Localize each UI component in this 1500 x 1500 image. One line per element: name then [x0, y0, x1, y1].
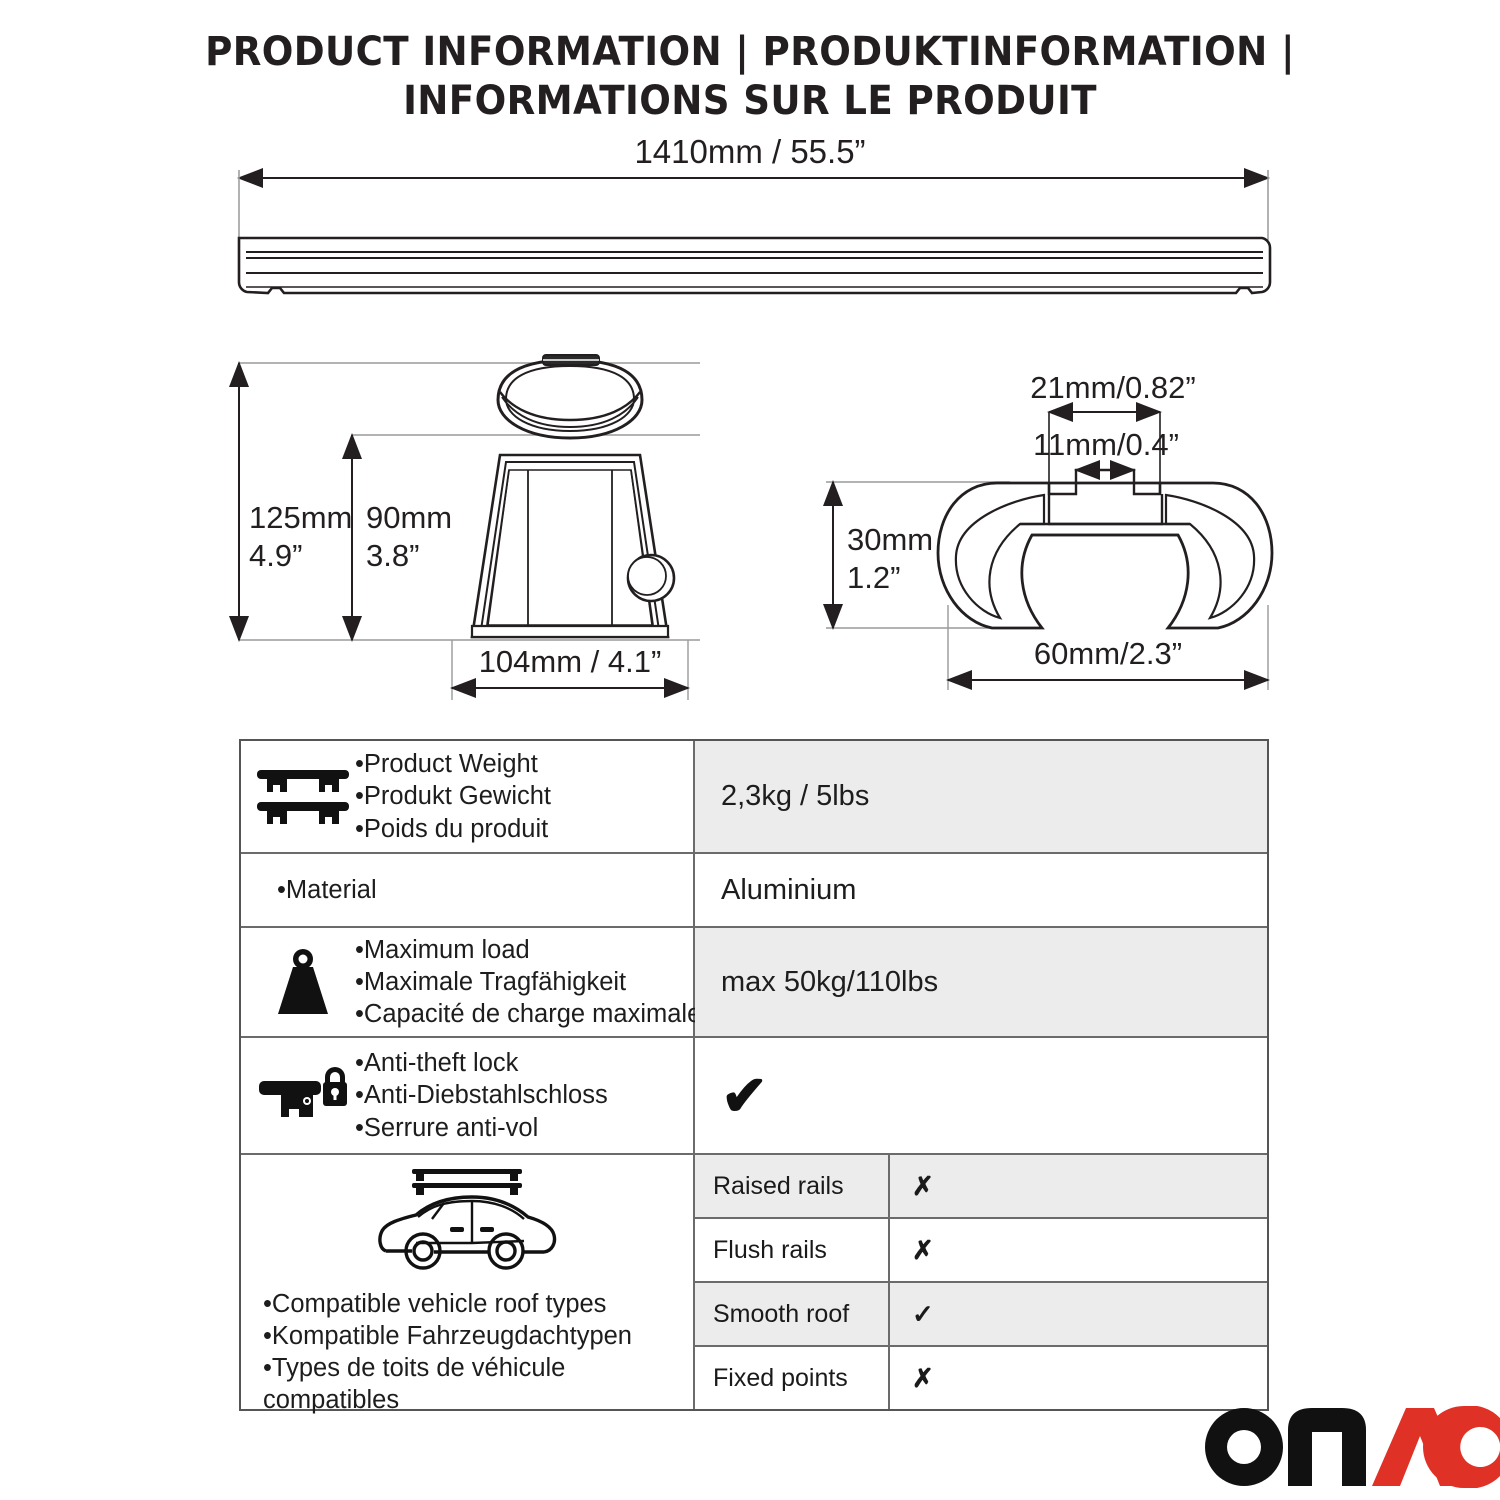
- bar-cross-section-view: 21mm/0.82” 11mm/0.4” 30mm 1.2” 60mm/2.3”: [826, 370, 1272, 690]
- anti-theft-lock-value: ✔: [721, 1068, 768, 1124]
- label-line-fr: •Types de toits de véhicule: [263, 1352, 632, 1384]
- maximum-load-value: max 50kg/110lbs: [721, 966, 938, 999]
- label-line-fr: •Poids du produit: [355, 813, 689, 845]
- roof-type-value: ✓: [890, 1283, 1267, 1345]
- roof-type-name: Raised rails: [695, 1155, 890, 1217]
- page-title: PRODUCT INFORMATION | PRODUKTINFORMATION…: [0, 28, 1500, 126]
- row-label-cell: •Product Weight •Produkt Gewicht •Poids …: [241, 741, 695, 852]
- product-specification-table: •Product Weight •Produkt Gewicht •Poids …: [239, 739, 1269, 1411]
- table-row-product-weight: •Product Weight •Produkt Gewicht •Poids …: [241, 741, 1267, 854]
- roof-type-row: Raised rails ✗: [695, 1155, 1267, 1219]
- foot-inner-height-mm: 90mm: [366, 500, 452, 535]
- row-label-text: •Anti-theft lock •Anti-Diebstahlschloss …: [355, 1047, 689, 1143]
- row-label-cell: •Material: [241, 854, 695, 926]
- row-label-cell: •Maximum load •Maximale Tragfähigkeit •C…: [241, 928, 695, 1036]
- logo-letter-m: [1288, 1408, 1366, 1486]
- bar-length-label: 1410mm / 55.5”: [634, 133, 865, 170]
- row-label-cell: •Anti-theft lock •Anti-Diebstahlschloss …: [241, 1038, 695, 1153]
- row-label-text: •Compatible vehicle roof types •Kompatib…: [241, 1288, 632, 1417]
- row-label-text: •Maximum load •Maximale Tragfähigkeit •C…: [355, 934, 701, 1030]
- roof-types-subtable: Raised rails ✗ Flush rails ✗ Smooth roof…: [695, 1155, 1267, 1409]
- roof-type-name: Fixed points: [695, 1347, 890, 1409]
- logo-letter-o: [1205, 1408, 1283, 1486]
- foot-inner-height-in: 3.8”: [366, 538, 419, 573]
- label-line-en: •Maximum load: [355, 934, 701, 966]
- row-label-text: •Material: [277, 874, 689, 906]
- label-line-fr: •Serrure anti-vol: [355, 1112, 689, 1144]
- foot-front-view: 125mm 4.9” 90mm 3.8” 104mm / 4.1”: [239, 355, 700, 700]
- car-with-rack-icon: [372, 1163, 562, 1280]
- label-line-en: •Product Weight: [355, 748, 689, 780]
- product-weight-value: 2,3kg / 5lbs: [721, 780, 869, 813]
- label-line-fr: •Capacité de charge maximale: [355, 998, 701, 1030]
- row-value-cell: 2,3kg / 5lbs: [695, 741, 1267, 852]
- table-row-maximum-load: •Maximum load •Maximale Tragfähigkeit •C…: [241, 928, 1267, 1038]
- lock-icon: [251, 1065, 355, 1127]
- profile-width-label: 60mm/2.3”: [1034, 636, 1182, 671]
- foot-total-height-mm: 125mm: [249, 500, 352, 535]
- label-line-en: •Compatible vehicle roof types: [263, 1288, 632, 1320]
- row-value-cell: ✔: [695, 1038, 1267, 1153]
- roof-type-value: ✗: [890, 1155, 1267, 1217]
- roof-type-row: Flush rails ✗: [695, 1219, 1267, 1283]
- label-line-en: •Anti-theft lock: [355, 1047, 689, 1079]
- weight-icon: [251, 946, 355, 1018]
- profile-height-mm: 30mm: [847, 522, 933, 557]
- table-row-material: •Material Aluminium: [241, 854, 1267, 928]
- profile-height-in: 1.2”: [847, 560, 900, 595]
- row-label-cell: •Compatible vehicle roof types •Kompatib…: [241, 1155, 695, 1409]
- omac-logo: [1200, 1406, 1500, 1488]
- row-value-cell: max 50kg/110lbs: [695, 928, 1267, 1036]
- label-line-de: •Produkt Gewicht: [355, 780, 689, 812]
- row-value-cell: Aluminium: [695, 854, 1267, 926]
- page-title-line-1: PRODUCT INFORMATION | PRODUKTINFORMATION…: [53, 28, 1448, 77]
- slot-inner-label: 11mm/0.4”: [1033, 427, 1179, 462]
- slot-outer-label: 21mm/0.82”: [1030, 370, 1195, 405]
- foot-total-height-in: 4.9”: [249, 538, 302, 573]
- label-line-de: •Anti-Diebstahlschloss: [355, 1079, 689, 1111]
- row-label-text: •Product Weight •Produkt Gewicht •Poids …: [355, 748, 689, 844]
- label-line-fr-cont: compatibles: [263, 1384, 632, 1416]
- roof-type-value: ✗: [890, 1347, 1267, 1409]
- bar-length-dimension: 1410mm / 55.5”: [239, 133, 1268, 240]
- roof-type-row: Fixed points ✗: [695, 1347, 1267, 1409]
- foot-width-label: 104mm / 4.1”: [479, 644, 662, 679]
- table-row-anti-theft-lock: •Anti-theft lock •Anti-Diebstahlschloss …: [241, 1038, 1267, 1155]
- page-title-line-2: INFORMATIONS SUR LE PRODUIT: [53, 77, 1448, 126]
- material-value: Aluminium: [721, 874, 856, 907]
- roof-type-name: Smooth roof: [695, 1283, 890, 1345]
- label-line-de: •Kompatible Fahrzeugdachtypen: [263, 1320, 632, 1352]
- roof-type-row: Smooth roof ✓: [695, 1283, 1267, 1347]
- two-crossbars-icon: [251, 764, 355, 830]
- roof-type-value: ✗: [890, 1219, 1267, 1281]
- label-line-de: •Maximale Tragfähigkeit: [355, 966, 701, 998]
- crossbar-side-view: [239, 238, 1270, 293]
- roof-type-name: Flush rails: [695, 1219, 890, 1281]
- table-row-roof-compatibility: •Compatible vehicle roof types •Kompatib…: [241, 1155, 1267, 1409]
- label-line-en: •Material: [277, 874, 689, 906]
